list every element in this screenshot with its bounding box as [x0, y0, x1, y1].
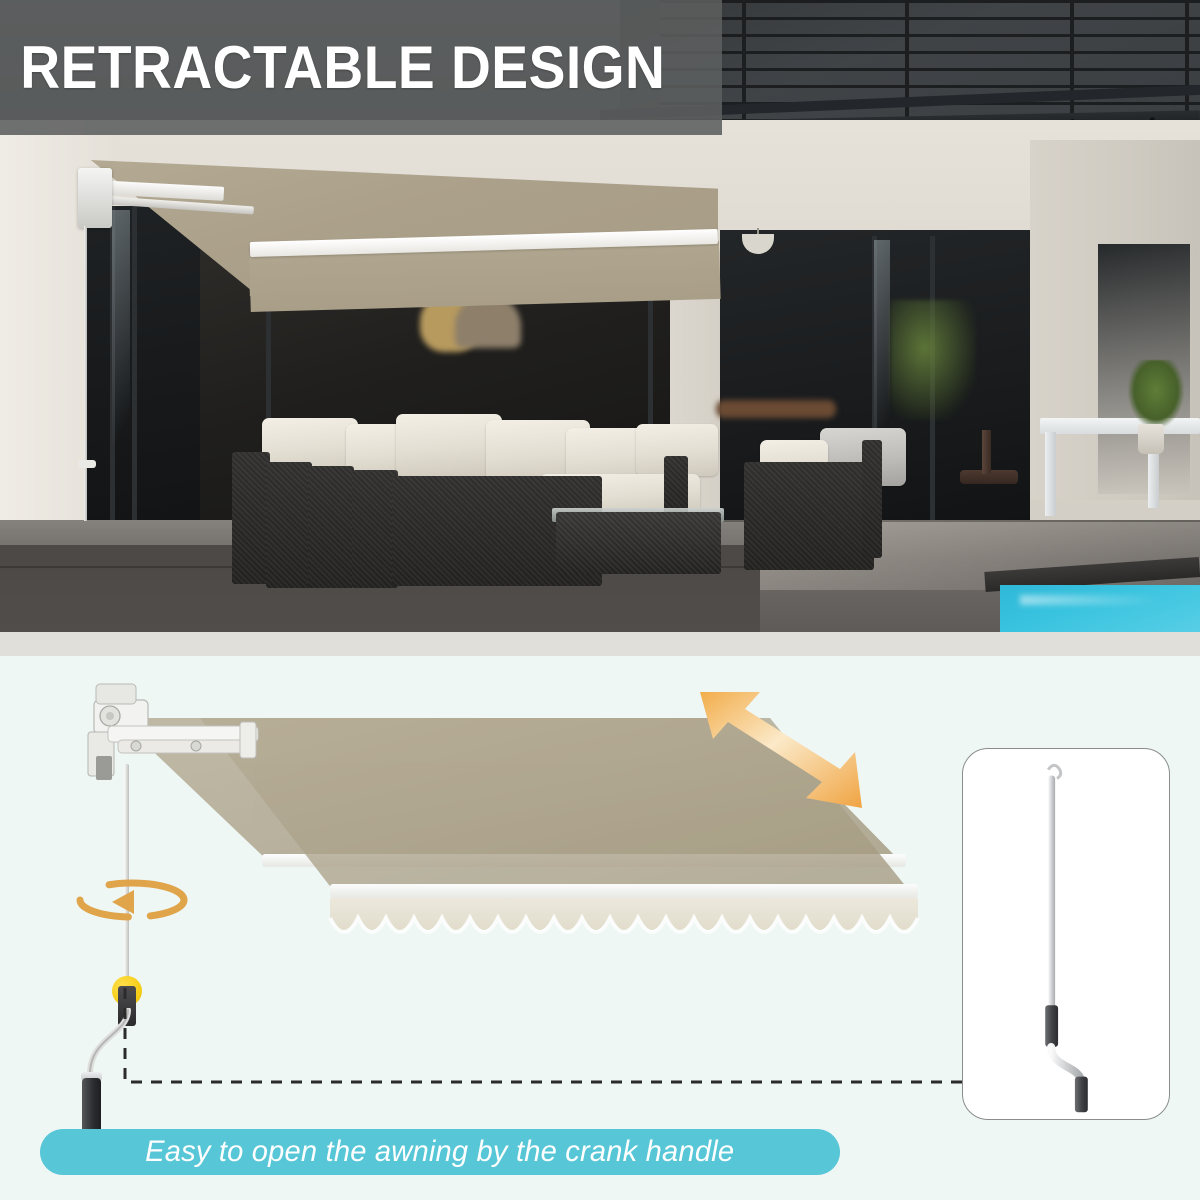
coffee-table: [556, 512, 721, 574]
product-lifestyle-photo: RETRACTABLE DESIGN: [0, 0, 1200, 632]
potted-plant: [1128, 360, 1184, 428]
sofa-back-panel: [266, 462, 312, 588]
swimming-pool: [1000, 585, 1200, 632]
awning-crank-rod: [84, 226, 87, 521]
armchair-frame: [744, 462, 874, 570]
feature-caption-text: Easy to open the awning by the crank han…: [145, 1135, 734, 1169]
balcony-post: [1070, 0, 1074, 128]
sofa-back-panel: [308, 466, 354, 588]
pool-water-sheen: [1020, 595, 1160, 605]
tree-reflection: [890, 300, 976, 420]
balcony-post: [1185, 0, 1189, 128]
interior-table: [716, 400, 836, 418]
awning-wall-bracket: [78, 168, 112, 228]
armchair-armrest: [862, 440, 882, 558]
panel-divider: [0, 632, 1200, 656]
balcony-post: [905, 0, 909, 128]
headline-banner: RETRACTABLE DESIGN: [0, 0, 722, 135]
retractable-awning-photo: [78, 160, 718, 450]
feature-caption-pill: Easy to open the awning by the crank han…: [40, 1129, 840, 1175]
crank-handle-inset-card: [962, 748, 1170, 1120]
sofa-armrest-left: [232, 452, 270, 584]
umbrella-pole: [982, 430, 991, 474]
table-leg: [1045, 432, 1056, 516]
crank-handle-product-image: [963, 749, 1169, 1119]
plant-pot: [1138, 424, 1164, 454]
awning-crank-handle-end: [78, 460, 96, 468]
page-title: RETRACTABLE DESIGN: [0, 33, 665, 102]
